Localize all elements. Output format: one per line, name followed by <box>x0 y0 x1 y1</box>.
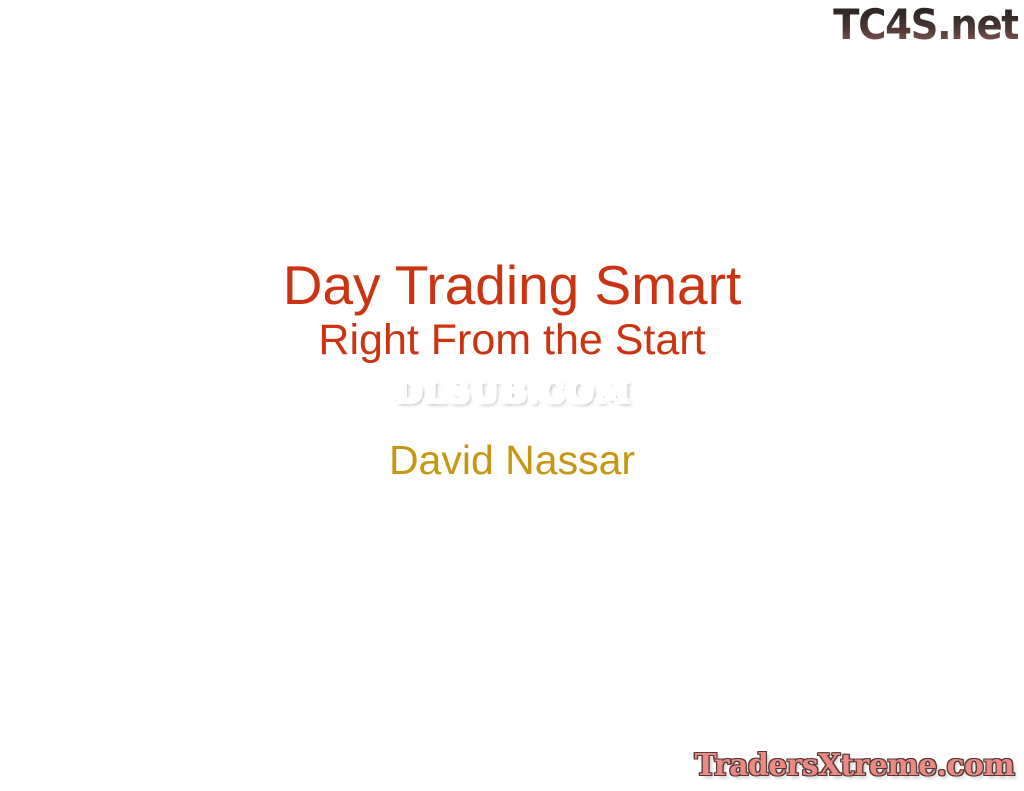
dlsub-watermark: DLSUB.COM <box>0 377 1024 409</box>
presentation-slide: TC4S.net Day Trading Smart Right From th… <box>0 0 1024 791</box>
title-block: Day Trading Smart Right From the Start <box>0 254 1024 364</box>
dlsub-watermark-text: DLSUB.COM <box>394 377 630 409</box>
tc4s-logo: TC4S.net <box>833 2 1018 48</box>
author-name: David Nassar <box>0 437 1024 483</box>
tradersxtreme-watermark: TradersXtreme.com <box>693 749 1016 783</box>
tradersxtreme-watermark-text: TradersXtreme.com <box>695 749 1015 783</box>
page-title: Day Trading Smart <box>0 254 1024 316</box>
page-subtitle: Right From the Start <box>0 316 1024 364</box>
